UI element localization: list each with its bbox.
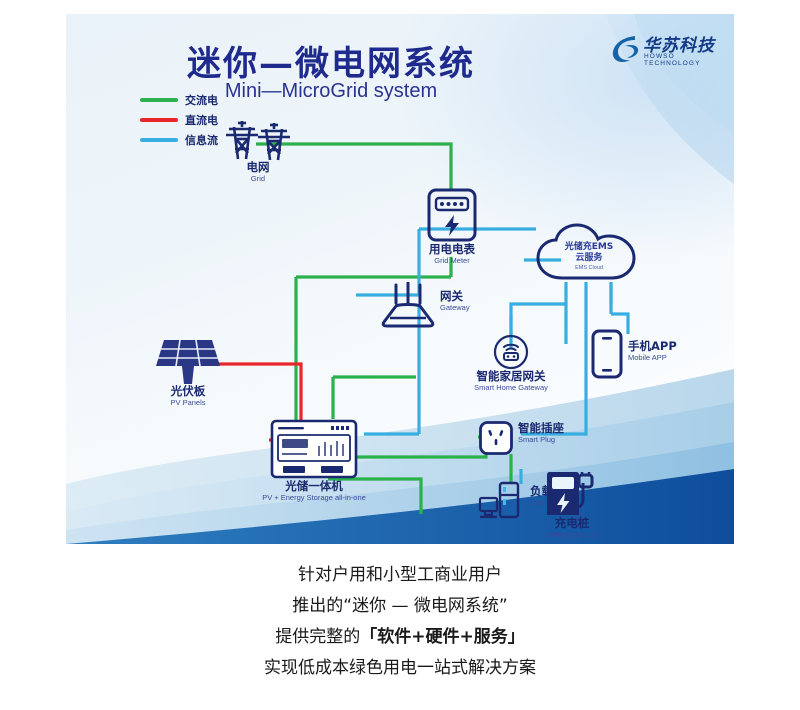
- smart-home-gateway-label-en: Smart Home Gateway: [474, 383, 548, 393]
- legend-item-dc: 直流电: [140, 112, 218, 128]
- legend: 交流电 直流电 信息流: [140, 92, 218, 152]
- router-icon: [378, 282, 438, 328]
- copy-line-3-prefix: 提供完整的: [275, 627, 360, 647]
- ems-cloud-label-en: EMS Cloud: [534, 264, 644, 272]
- mobile-app-label-zh: 手机APP: [628, 340, 677, 353]
- legend-label-dc: 直流电: [185, 112, 218, 128]
- copy-line-3-highlight: 「软件+硬件+服务」: [360, 627, 525, 647]
- smart-plug-label: 智能插座 Smart Plug: [518, 422, 564, 445]
- node-ems-cloud: 光储充EMS 云服务 EMS Cloud: [534, 222, 644, 284]
- gateway-label: 网关 Gateway: [440, 290, 470, 313]
- allinone-label-en: PV + Energy Storage all-in-one: [262, 493, 366, 503]
- ems-cloud-label-zh-1: 光储充EMS: [534, 242, 644, 253]
- electric-meter-icon: [426, 187, 478, 243]
- smart-plug-label-en: Smart Plug: [518, 435, 564, 445]
- home-appliances-icon: [478, 480, 526, 520]
- node-allinone: 光储一体机 PV + Energy Storage all-in-one: [244, 418, 424, 496]
- ems-cloud-label: 光储充EMS 云服务 EMS Cloud: [534, 242, 644, 272]
- node-charging-station: 充电桩 charging station: [538, 469, 638, 539]
- legend-item-ac: 交流电: [140, 92, 218, 108]
- legend-swatch-info: [140, 138, 178, 142]
- copy-line-3: 提供完整的「软件+硬件+服务」: [0, 622, 800, 653]
- pv-panels-label-en: PV Panels: [170, 398, 205, 408]
- howso-swoosh-icon: [611, 33, 641, 65]
- node-gateway: 网关 Gateway: [378, 282, 498, 328]
- ems-cloud-label-zh-2: 云服务: [534, 253, 644, 264]
- smart-home-gateway-label-zh: 智能家居网关: [474, 370, 548, 383]
- page-title: 迷你—微电网系统: [66, 36, 596, 85]
- grid-label-en: Grid: [247, 174, 270, 184]
- grid-meter-label: 用电电表 Grid Meter: [429, 243, 475, 266]
- legend-swatch-ac: [140, 98, 178, 102]
- smartphone-icon: [590, 328, 624, 380]
- solar-panel-icon: [152, 336, 224, 384]
- mobile-app-label: 手机APP Mobile APP: [628, 340, 677, 363]
- grid-meter-label-zh: 用电电表: [429, 243, 475, 256]
- allinone-label: 光储一体机 PV + Energy Storage all-in-one: [262, 480, 366, 503]
- gateway-label-en: Gateway: [440, 303, 470, 313]
- marketing-copy: 针对户用和小型工商业用户 推出的“迷你 — 微电网系统” 提供完整的「软件+硬件…: [0, 560, 800, 684]
- poster-page: 迷你—微电网系统 Mini—MicroGrid system 华苏科技 HOWS…: [0, 0, 800, 710]
- mobile-app-label-en: Mobile APP: [628, 353, 677, 363]
- smart-home-gateway-label: 智能家居网关 Smart Home Gateway: [474, 370, 548, 393]
- pv-panels-label: 光伏板 PV Panels: [170, 385, 205, 408]
- node-smart-plug: 智能插座 Smart Plug: [478, 420, 598, 460]
- inverter-cabinet-icon: [269, 418, 359, 480]
- grid-meter-label-en: Grid Meter: [429, 256, 475, 266]
- grid-label-zh: 电网: [247, 161, 270, 174]
- charging-station-label: 充电桩 charging station: [546, 517, 599, 540]
- grid-label: 电网 Grid: [247, 161, 270, 184]
- node-grid: 电网 Grid: [216, 117, 300, 179]
- ev-charger-icon: [543, 469, 601, 517]
- legend-swatch-dc: [140, 118, 178, 122]
- smart-plug-label-zh: 智能插座: [518, 422, 564, 435]
- logo-name-en: HOWSO TECHNOLOGY: [644, 53, 723, 67]
- node-pv-panels: 光伏板 PV Panels: [128, 336, 248, 406]
- node-mobile-app: 手机APP Mobile APP: [590, 328, 720, 382]
- brand-logo: 华苏科技 HOWSO TECHNOLOGY: [611, 30, 723, 72]
- legend-item-info: 信息流: [140, 132, 218, 148]
- power-socket-icon: [478, 420, 514, 456]
- pv-panels-label-zh: 光伏板: [170, 385, 205, 398]
- diagram-poster: 迷你—微电网系统 Mini—MicroGrid system 华苏科技 HOWS…: [66, 14, 734, 544]
- legend-label-info: 信息流: [185, 132, 218, 148]
- copy-line-2: 推出的“迷你 — 微电网系统”: [0, 591, 800, 622]
- charging-station-label-zh: 充电桩: [546, 517, 599, 530]
- charging-station-label-en: charging station: [546, 530, 599, 540]
- copy-line-1: 针对户用和小型工商业用户: [0, 560, 800, 591]
- transmission-tower-icon: [221, 117, 295, 161]
- node-smart-home-gateway: 智能家居网关 Smart Home Gateway: [462, 334, 562, 392]
- allinone-label-zh: 光储一体机: [262, 480, 366, 493]
- gateway-label-zh: 网关: [440, 290, 470, 303]
- node-grid-meter: 用电电表 Grid Meter: [418, 187, 486, 263]
- legend-label-ac: 交流电: [185, 92, 218, 108]
- smart-home-gateway-icon: [493, 334, 529, 370]
- copy-line-4: 实现低成本绿色用电一站式解决方案: [0, 653, 800, 684]
